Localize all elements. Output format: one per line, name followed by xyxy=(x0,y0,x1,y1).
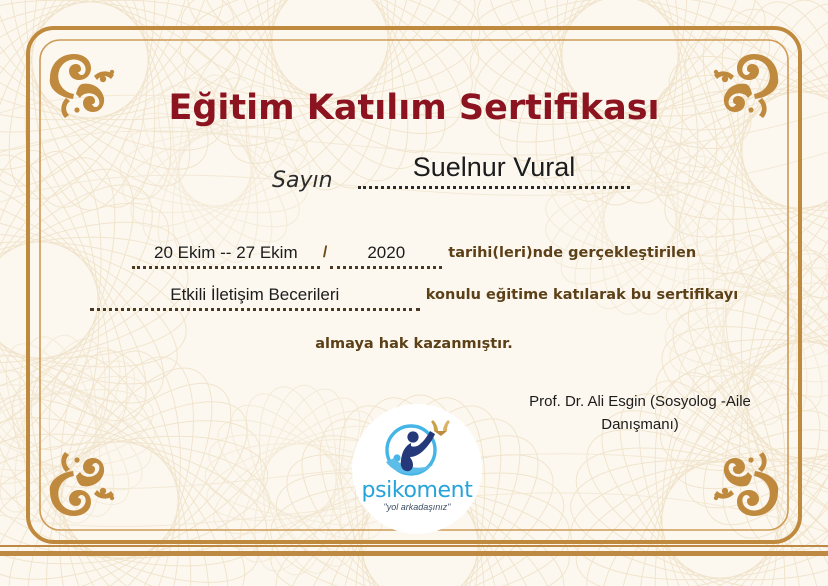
certificate-footer: Verification Number: 623967166473 Issued… xyxy=(0,556,828,586)
recipient-name: Suelnur Vural xyxy=(358,152,630,183)
date-separator: / xyxy=(320,244,330,262)
logo-wordmark: psikoment xyxy=(352,478,482,503)
certificate-document: Eğitim Katılım Sertifikası Sayın Suelnur… xyxy=(0,0,828,586)
certificate-content: Eğitim Katılım Sertifikası Sayın Suelnur… xyxy=(0,0,828,586)
after-date-text: tarihi(leri)nde gerçekleştirilen xyxy=(442,245,696,261)
person-raising-arms-in-circle-icon xyxy=(378,418,456,480)
after-topic-text: konulu eğitime katılarak bu sertifikayı xyxy=(420,287,738,303)
date-range-value: 20 Ekim -- 27 Ekim xyxy=(132,243,320,269)
year-value: 2020 xyxy=(330,243,442,269)
certificate-title: Eğitim Katılım Sertifikası xyxy=(0,88,828,128)
salutation-label: Sayın xyxy=(272,168,333,193)
topic-line: Etkili İletişim Becerilerikonulu eğitime… xyxy=(0,285,828,311)
recipient-name-dotted-rule xyxy=(358,180,630,189)
topic-value: Etkili İletişim Becerileri xyxy=(90,285,420,311)
logo-tagline: "yol arkadaşınız" xyxy=(352,502,482,512)
signer-name-and-title: Prof. Dr. Ali Esgin (Sosyolog -Aile Danı… xyxy=(500,390,780,436)
footer-rule-thin xyxy=(0,545,828,547)
organization-logo: psikoment "yol arkadaşınız" xyxy=(352,404,482,534)
date-line: 20 Ekim -- 27 Ekim/2020tarihi(leri)nde g… xyxy=(0,243,828,269)
closing-text: almaya hak kazanmıştır. xyxy=(0,336,828,352)
